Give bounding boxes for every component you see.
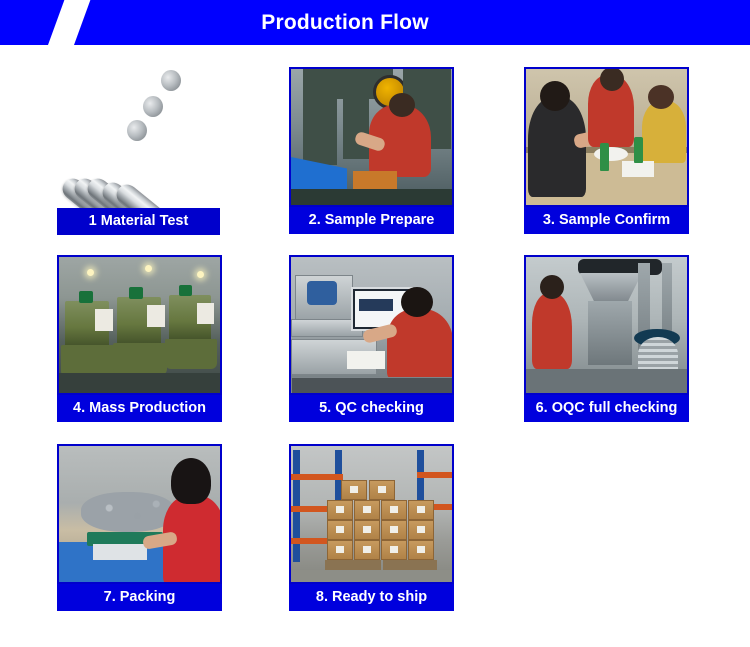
flow-step-6-label: 6. OQC full checking — [524, 395, 689, 422]
flow-step-4[interactable]: 4. Mass Production — [57, 255, 222, 422]
ready-to-ship-illustration — [291, 446, 452, 582]
flow-step-3-photo — [524, 67, 689, 207]
punch-press-illustration — [291, 69, 452, 205]
flow-step-8[interactable]: 8. Ready to ship — [289, 444, 454, 611]
sample-confirm-illustration — [526, 69, 687, 205]
flow-step-7-label: 7. Packing — [57, 584, 222, 611]
flow-step-2-label: 2. Sample Prepare — [289, 207, 454, 234]
page-header: Production Flow — [0, 0, 750, 45]
flow-step-6-photo — [524, 255, 689, 395]
flow-step-6[interactable]: 6. OQC full checking — [524, 255, 689, 422]
page-title: Production Flow — [0, 0, 750, 45]
mass-production-illustration — [59, 257, 220, 393]
flow-step-1-photo — [57, 54, 220, 208]
flow-step-2[interactable]: 2. Sample Prepare — [289, 67, 454, 234]
flow-step-7[interactable]: 7. Packing — [57, 444, 222, 611]
flow-step-1[interactable]: 1 Material Test — [57, 54, 220, 234]
flow-step-3-label: 3. Sample Confirm — [524, 207, 689, 234]
oqc-checking-illustration — [526, 257, 687, 393]
packing-illustration — [59, 446, 220, 582]
flow-step-4-photo — [57, 255, 222, 395]
flow-step-4-label: 4. Mass Production — [57, 395, 222, 422]
flow-step-8-label: 8. Ready to ship — [289, 584, 454, 611]
flow-step-3[interactable]: 3. Sample Confirm — [524, 67, 689, 234]
flow-step-5[interactable]: 5. QC checking — [289, 255, 454, 422]
steel-rods-illustration — [57, 54, 220, 208]
production-flow-grid: 1 Material Test 2. Sample Prepare — [0, 45, 750, 647]
flow-step-5-photo — [289, 255, 454, 395]
flow-step-7-photo — [57, 444, 222, 584]
flow-step-1-label: 1 Material Test — [57, 208, 220, 235]
flow-step-5-label: 5. QC checking — [289, 395, 454, 422]
flow-step-2-photo — [289, 67, 454, 207]
qc-checking-illustration — [291, 257, 452, 393]
flow-step-8-photo — [289, 444, 454, 584]
